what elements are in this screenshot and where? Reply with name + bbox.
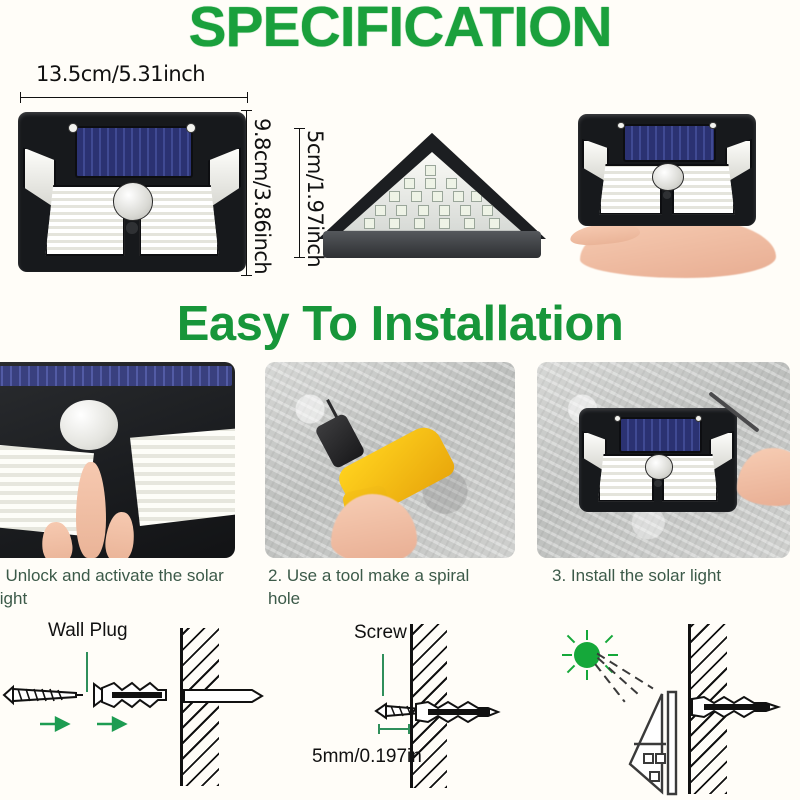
solar-lamp-front [18, 112, 246, 272]
arrow-right-icon-1 [40, 716, 70, 732]
dimension-width-line [20, 97, 248, 98]
solar-panel [619, 417, 702, 452]
wall-plug-leader-line [86, 652, 88, 692]
step-1-photo [0, 362, 235, 558]
page-title: SPECIFICATION [0, 0, 800, 60]
power-button [126, 222, 137, 233]
led-panel-right-closeup [130, 428, 235, 526]
arrow-right-icon-2 [97, 716, 127, 732]
screw-size-measure [378, 728, 410, 730]
dimension-height-line [246, 110, 247, 276]
motion-sensor-dome [645, 454, 674, 480]
installed-plug-icon-2 [414, 698, 510, 726]
dimension-width-label: 13.5cm/5.31inch [36, 62, 205, 86]
solar-lamp-held [578, 114, 756, 226]
wall-plug-icon [92, 678, 172, 712]
diagram-screw: Screw 5mm/0.197in [330, 620, 560, 800]
installed-plug-icon [182, 682, 268, 710]
dimension-height-label: 9.8cm/3.86inch [250, 118, 274, 274]
step-2-caption: 2. Use a tool make a spiral hole [268, 564, 503, 610]
step-2-photo [265, 362, 515, 558]
diagram-installed-light [540, 620, 800, 800]
step-3-caption: 3. Install the solar light [552, 564, 797, 587]
installed-plug-icon-3 [690, 694, 798, 720]
solar-lamp-mounted [579, 408, 737, 512]
diagram-wall-plug: Wall Plug [0, 620, 260, 800]
solar-panel-closeup [0, 366, 232, 386]
pressing-finger [76, 462, 106, 558]
step-3-photo [537, 362, 790, 558]
mounting-hole-right [186, 123, 196, 133]
power-button [654, 480, 662, 487]
screw-leader-line [382, 654, 384, 696]
product-side-view [318, 122, 546, 258]
dimension-depth-line [299, 128, 300, 258]
solar-panel [623, 124, 716, 162]
product-in-hand-view [570, 112, 785, 282]
solar-lamp-body-small [578, 114, 756, 226]
step-1-caption: . Unlock and activate the solar light [0, 564, 226, 610]
motion-sensor-dome-closeup [60, 400, 118, 450]
section-title-installation: Easy To Installation [0, 296, 800, 352]
screw-icon [2, 682, 84, 708]
product-front-view [18, 112, 246, 272]
mounted-solar-lamp [579, 408, 737, 512]
screw-label: Screw [354, 622, 407, 644]
lamp-profile-base [323, 231, 542, 258]
mounted-fixture-icon [624, 692, 698, 796]
solar-panel [75, 126, 193, 178]
product-spec-page: SPECIFICATION 13.5cm/5.31inch 9.8cm/3.86… [0, 0, 800, 800]
screw-size-label: 5mm/0.197in [312, 746, 422, 768]
wall-plug-label: Wall Plug [48, 620, 128, 642]
motion-sensor-dome [652, 163, 684, 191]
